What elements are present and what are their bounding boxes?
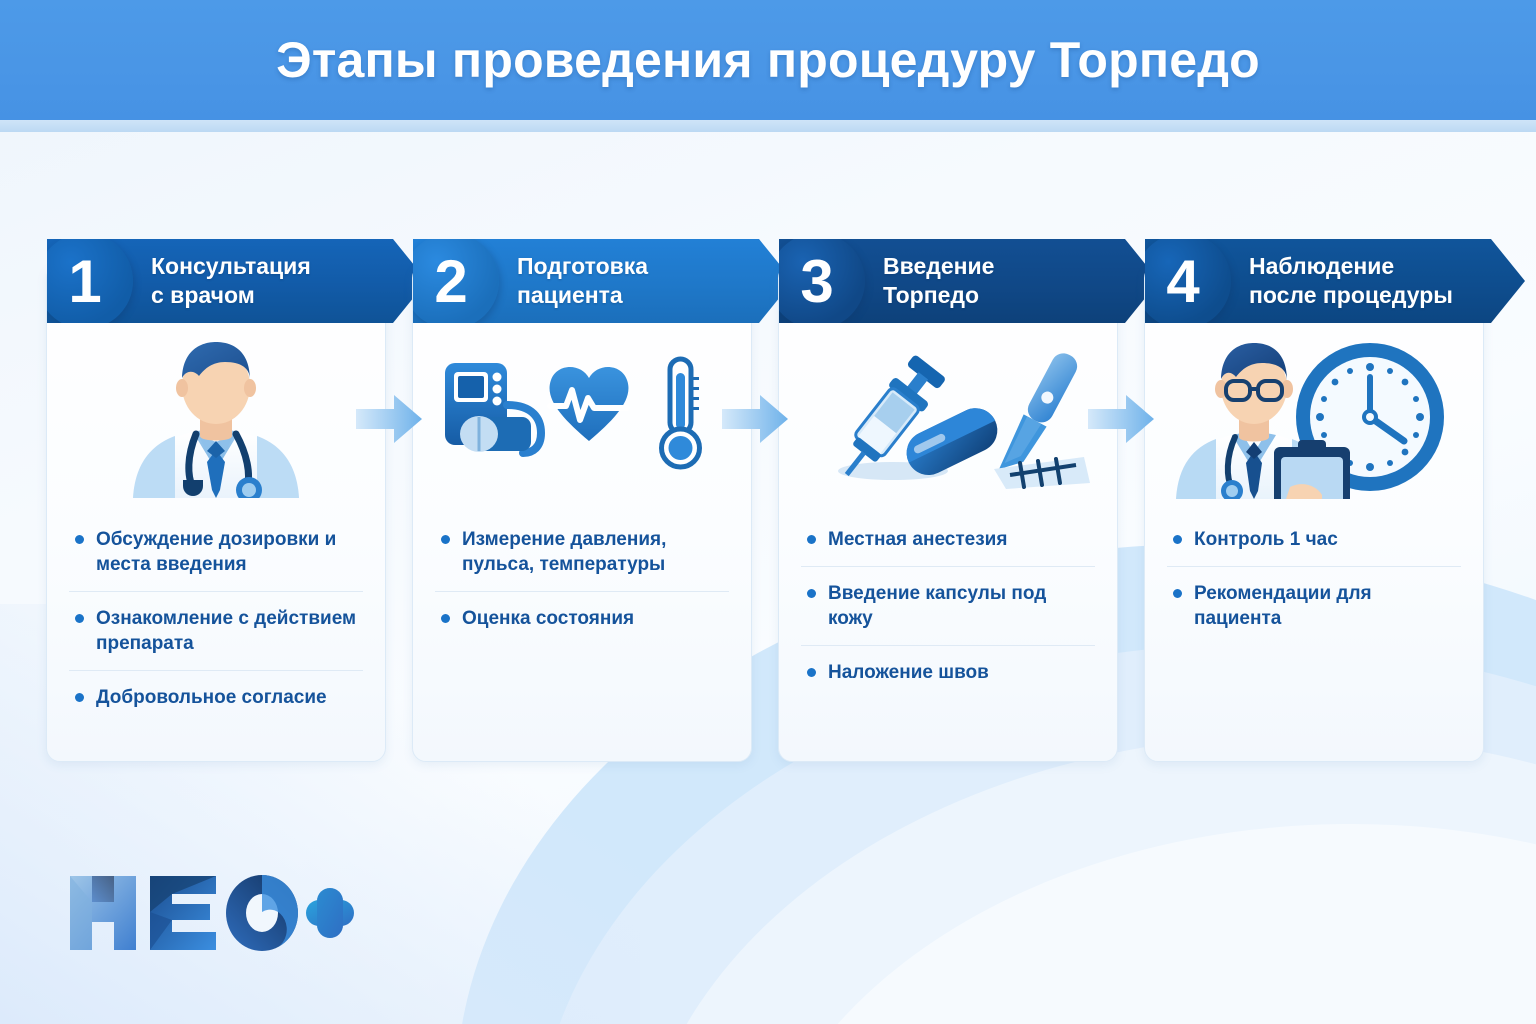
- step-1-bullet-list: Обсуждение дозировки и места введения Оз…: [69, 513, 363, 724]
- brand-logo: [66, 870, 356, 954]
- list-item: Измерение давления, пульса, температуры: [435, 513, 729, 592]
- step-1-illustration: [47, 333, 385, 503]
- step-4-title: Наблюдение после процедуры: [1249, 252, 1453, 310]
- step-2-illustration: [413, 333, 751, 503]
- step-4-bullet-list: Контроль 1 час Рекомендации для пациента: [1167, 513, 1461, 645]
- step-1-number-badge: 1: [37, 233, 133, 329]
- arrow-step3-to-step4: [1088, 395, 1154, 443]
- step-2-bullet-list: Измерение давления, пульса, температуры …: [435, 513, 729, 645]
- list-item: Ознакомление с действием препарата: [69, 592, 363, 671]
- bullet-dot-icon: [1173, 589, 1182, 598]
- syringe-capsule-scalpel-icon: [798, 343, 1098, 493]
- list-item: Местная анестезия: [801, 513, 1095, 567]
- bullet-text: Наложение швов: [828, 660, 989, 685]
- bullet-text: Оценка состояния: [462, 606, 634, 631]
- bullet-text: Ознакомление с действием препарата: [96, 606, 359, 656]
- arrow-step1-to-step2: [356, 395, 422, 443]
- bullet-text: Рекомендации для пациента: [1194, 581, 1457, 631]
- list-item: Оценка состояния: [435, 592, 729, 645]
- step-4-banner: 4 Наблюдение после процедуры: [1145, 239, 1525, 323]
- doctor-stethoscope-icon: [101, 338, 331, 498]
- step-1-banner: 1 Консультация с врачом: [47, 239, 427, 323]
- bullet-dot-icon: [441, 535, 450, 544]
- vitals-monitor-heart-thermometer-icon: [437, 353, 727, 483]
- step-card-4[interactable]: 4 Наблюдение после процедуры: [1144, 264, 1484, 762]
- list-item: Обсуждение дозировки и места введения: [69, 513, 363, 592]
- bullet-dot-icon: [441, 614, 450, 623]
- step-1-title: Консультация с врачом: [151, 252, 311, 310]
- step-3-banner: 3 Введение Торпедо: [779, 239, 1159, 323]
- bullet-dot-icon: [75, 693, 84, 702]
- steps-row: 1 Консультация с врачом: [0, 232, 1536, 742]
- page-header: Этапы проведения процедуру Торпедо: [0, 0, 1536, 120]
- doctor-clipboard-clock-icon: [1164, 337, 1464, 499]
- bullet-text: Введение капсулы под кожу: [828, 581, 1091, 631]
- bullet-text: Обсуждение дозировки и места введения: [96, 527, 359, 577]
- step-3-number-badge: 3: [769, 233, 865, 329]
- list-item: Добровольное согласие: [69, 671, 363, 724]
- step-card-2[interactable]: 2 Подготовка пациента: [412, 264, 752, 762]
- bullet-dot-icon: [807, 589, 816, 598]
- bullet-text: Добровольное согласие: [96, 685, 327, 710]
- bullet-dot-icon: [75, 535, 84, 544]
- list-item: Наложение швов: [801, 646, 1095, 699]
- list-item: Рекомендации для пациента: [1167, 567, 1461, 645]
- infographic-canvas: Этапы проведения процедуру Торпедо 1 Кон…: [0, 0, 1536, 1024]
- step-3-bullet-list: Местная анестезия Введение капсулы под к…: [801, 513, 1095, 699]
- arrow-step2-to-step3: [722, 395, 788, 443]
- step-card-3[interactable]: 3 Введение Торпедо: [778, 264, 1118, 762]
- list-item: Введение капсулы под кожу: [801, 567, 1095, 646]
- bullet-text: Контроль 1 час: [1194, 527, 1338, 552]
- step-2-number-badge: 2: [403, 233, 499, 329]
- list-item: Контроль 1 час: [1167, 513, 1461, 567]
- step-2-banner: 2 Подготовка пациента: [413, 239, 793, 323]
- step-2-title: Подготовка пациента: [517, 252, 648, 310]
- neo-plus-logo-icon: [66, 870, 356, 954]
- bullet-dot-icon: [1173, 535, 1182, 544]
- step-4-illustration: [1145, 333, 1483, 503]
- bullet-dot-icon: [807, 535, 816, 544]
- step-card-1[interactable]: 1 Консультация с врачом: [46, 264, 386, 762]
- bullet-dot-icon: [75, 614, 84, 623]
- step-3-illustration: [779, 333, 1117, 503]
- bullet-text: Измерение давления, пульса, температуры: [462, 527, 725, 577]
- step-3-title: Введение Торпедо: [883, 252, 994, 310]
- step-4-number-badge: 4: [1135, 233, 1231, 329]
- page-title: Этапы проведения процедуру Торпедо: [276, 31, 1260, 89]
- header-underline: [0, 120, 1536, 132]
- bullet-dot-icon: [807, 668, 816, 677]
- bullet-text: Местная анестезия: [828, 527, 1007, 552]
